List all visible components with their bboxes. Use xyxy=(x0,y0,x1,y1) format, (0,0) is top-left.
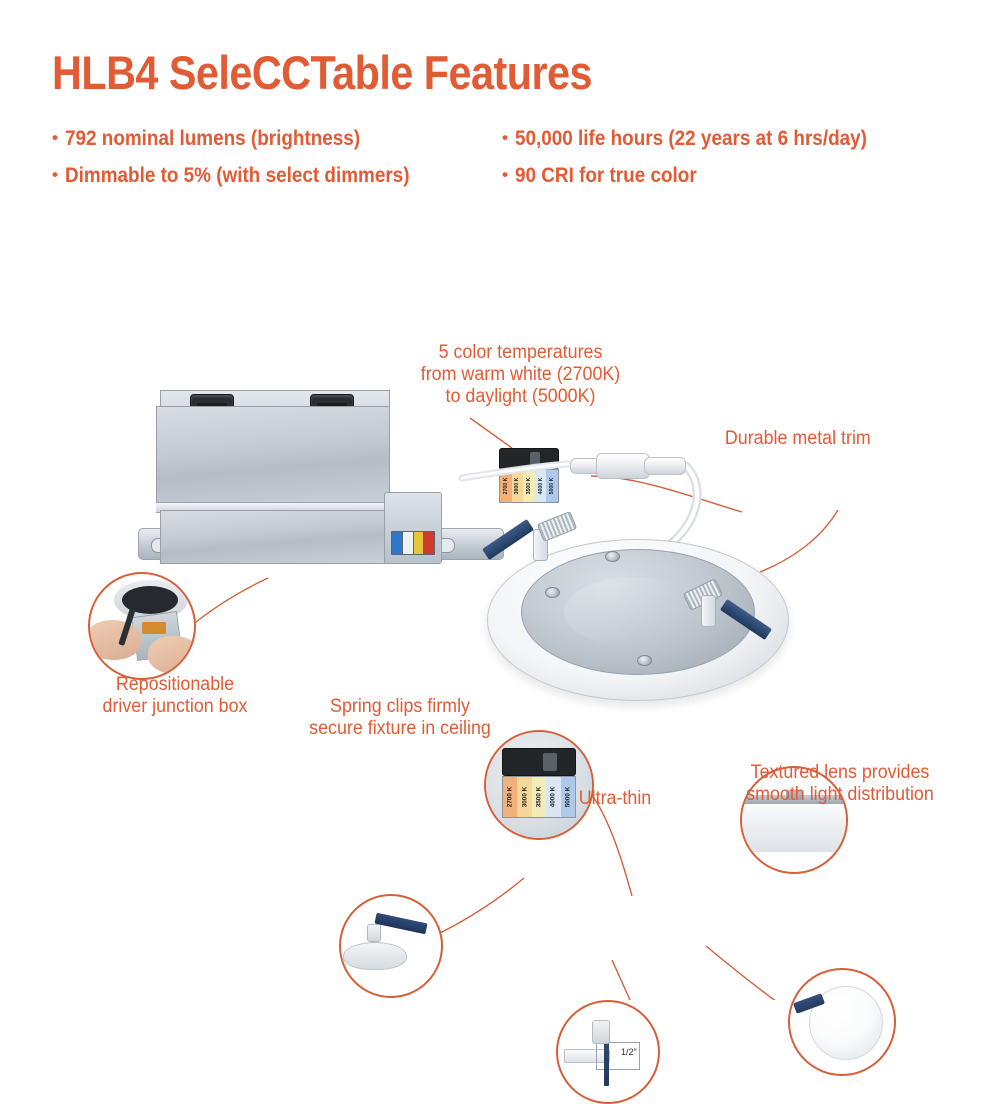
detail-bubble-textured-lens xyxy=(788,968,896,1076)
feature-bullet-item: • 90 CRI for true color xyxy=(502,165,952,186)
feature-bullet-text: 50,000 life hours (22 years at 6 hrs/day… xyxy=(515,128,867,149)
trim-edge-profile xyxy=(740,802,848,852)
callout-line: smooth light distribution xyxy=(718,784,962,806)
callout-line: to daylight (5000K) xyxy=(396,386,645,408)
spring-clip-blade xyxy=(374,913,427,935)
detail-bubble-spring-clip xyxy=(339,894,443,998)
spring-clip-right xyxy=(683,585,763,641)
feature-bullet-text: 90 CRI for true color xyxy=(515,165,697,186)
cct-band-label: 3000 K xyxy=(514,478,520,495)
feature-bullet-text: 792 nominal lumens (brightness) xyxy=(65,128,360,149)
cct-band[interactable]: 3500 K xyxy=(523,470,535,502)
spring-clip-arm xyxy=(482,519,534,560)
cct-selector-switch[interactable]: 5000 K 4000 K 3500 K 3000 K 2700 K xyxy=(497,448,561,504)
thickness-dimension-label: 1/2" xyxy=(621,1047,637,1057)
spring-clip-left xyxy=(483,511,563,567)
callout-line: Ultra-thin xyxy=(530,788,699,810)
cct-band[interactable]: 5000 K xyxy=(546,470,558,502)
housing-screw xyxy=(545,587,560,598)
installer-hand-left xyxy=(88,620,142,660)
junction-box-upper-shell xyxy=(156,406,390,508)
cct-band-label: 3000 K xyxy=(521,787,528,808)
junction-install-photo xyxy=(90,574,194,678)
detail-bubble-ultra-thin: 1/2" xyxy=(556,1000,660,1104)
callout-line: Textured lens provides xyxy=(718,762,962,784)
spring-clip-post xyxy=(701,595,716,627)
terminal-white xyxy=(403,532,413,554)
feature-bullet-item: • 50,000 life hours (22 years at 6 hrs/d… xyxy=(502,128,952,149)
feature-bullet-list: • 792 nominal lumens (brightness) • Dimm… xyxy=(52,128,952,202)
spring-clip-pivot xyxy=(592,1020,610,1044)
driver-module xyxy=(384,492,442,564)
fixture-edge-mini xyxy=(343,942,407,970)
detail-bubble-cct-switch: 5000 K 4000 K 3500 K 3000 K 2700 K xyxy=(484,730,594,840)
cct-scale: 5000 K 4000 K 3500 K 3000 K 2700 K xyxy=(499,469,559,503)
cct-slider-thumb[interactable] xyxy=(543,753,557,771)
feature-column-left: • 792 nominal lumens (brightness) • Dimm… xyxy=(52,128,502,202)
installer-hand-right xyxy=(148,636,196,674)
product-illustration: 5000 K 4000 K 3500 K 3000 K 2700 K xyxy=(0,300,1000,860)
housing-screw xyxy=(605,551,620,562)
lens-closeup xyxy=(790,970,894,1074)
cct-band[interactable]: 2700 K xyxy=(503,777,517,817)
cct-slider-track[interactable] xyxy=(499,448,559,470)
terminal-red xyxy=(424,532,434,554)
callout-line: Spring clips firmly xyxy=(292,696,508,718)
callout-line: from warm white (2700K) xyxy=(396,364,645,386)
callout-label-cct: 5 color temperatures from warm white (27… xyxy=(396,342,645,408)
spring-coil xyxy=(537,511,577,542)
quick-connector xyxy=(570,452,686,478)
header-block: HLB4 SeleCCTable Features xyxy=(52,48,952,97)
terminal-blue xyxy=(392,532,402,554)
callout-label-ultra-thin: Ultra-thin xyxy=(530,788,699,810)
connector-barrel-right xyxy=(644,457,686,475)
ultra-thin-closeup: 1/2" xyxy=(558,1002,658,1102)
cct-band-label: 5000 K xyxy=(549,478,555,495)
cct-band-label: 3500 K xyxy=(526,478,532,495)
callout-line: driver junction box xyxy=(67,696,283,718)
spring-clip-pivot xyxy=(367,924,381,942)
feature-bullet-item: • 792 nominal lumens (brightness) xyxy=(52,128,502,149)
callout-label-spring-clips: Spring clips firmly secure fixture in ce… xyxy=(292,696,508,740)
wire-connector-orange xyxy=(142,622,166,634)
page-title: HLB4 SeleCCTable Features xyxy=(52,48,844,97)
cct-switch-closeup: 5000 K 4000 K 3500 K 3000 K 2700 K xyxy=(486,732,592,838)
bullet-dot-icon: • xyxy=(502,166,508,183)
detail-bubble-junction-box xyxy=(88,572,196,680)
cct-band[interactable]: 2700 K xyxy=(500,470,512,502)
wire-terminal-block xyxy=(391,531,435,555)
downlight-fixture xyxy=(487,515,817,715)
spring-clip-closeup xyxy=(341,896,441,996)
callout-line: secure fixture in ceiling xyxy=(292,718,508,740)
callout-label-textured-lens: Textured lens provides smooth light dist… xyxy=(718,762,962,806)
cct-band-label: 2700 K xyxy=(507,787,514,808)
junction-box-lower-shell xyxy=(160,510,386,564)
cct-band-label: 2700 K xyxy=(503,478,509,495)
terminal-yellow xyxy=(414,532,424,554)
callout-line: Durable metal trim xyxy=(725,428,941,450)
feature-column-right: • 50,000 life hours (22 years at 6 hrs/d… xyxy=(502,128,952,202)
cct-band[interactable]: 4000 K xyxy=(535,470,547,502)
feature-bullet-item: • Dimmable to 5% (with select dimmers) xyxy=(52,165,502,186)
driver-junction-box xyxy=(148,390,508,590)
bullet-dot-icon: • xyxy=(502,129,508,146)
cct-slider-track-closeup[interactable] xyxy=(502,748,576,776)
callout-label-junction-box: Repositionable driver junction box xyxy=(67,674,283,718)
housing-screw xyxy=(637,655,652,666)
feature-bullet-text: Dimmable to 5% (with select dimmers) xyxy=(65,165,410,186)
connector-barrel-mid xyxy=(596,453,650,479)
callout-label-metal-trim: Durable metal trim xyxy=(725,428,941,450)
bullet-dot-icon: • xyxy=(52,166,58,183)
bullet-dot-icon: • xyxy=(52,129,58,146)
callout-line: Repositionable xyxy=(67,674,283,696)
cct-band[interactable]: 3000 K xyxy=(512,470,524,502)
cct-band-label: 4000 K xyxy=(538,478,544,495)
callout-line: 5 color temperatures xyxy=(396,342,645,364)
